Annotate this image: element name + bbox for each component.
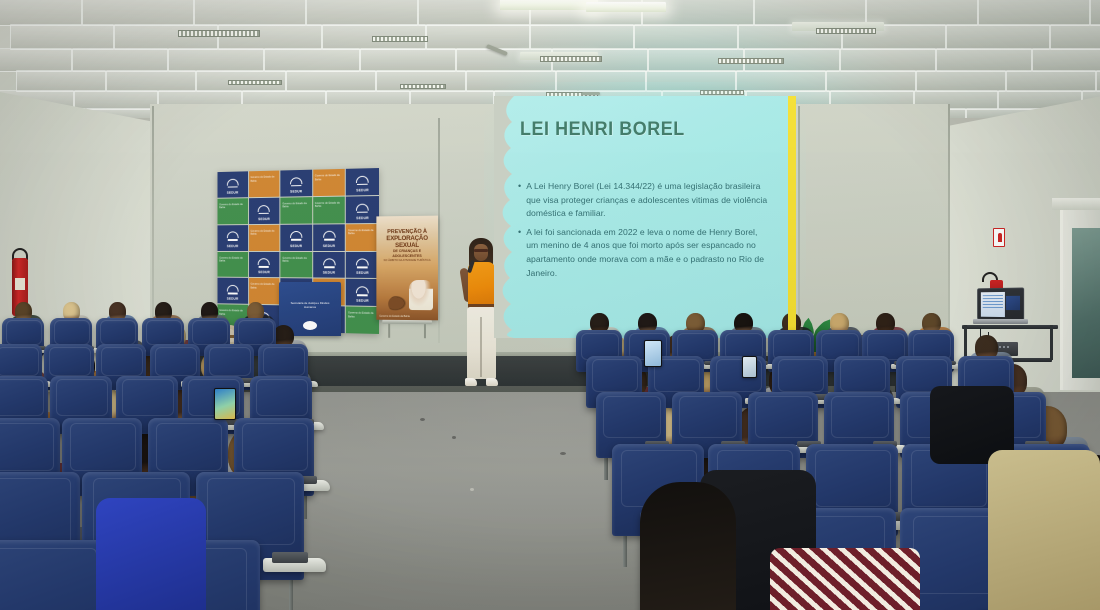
attendee-blue-scrubs bbox=[96, 498, 206, 610]
backdrop-logo-label: SEDUR bbox=[227, 191, 239, 195]
ceiling-tile bbox=[168, 48, 264, 72]
auditorium-presentation-photo: LEI HENRI BOREL •A Lei Henry Borel (Lei … bbox=[0, 0, 1100, 610]
backdrop-tile: SEDUR bbox=[313, 224, 345, 251]
ceiling-air-vent bbox=[540, 56, 602, 62]
auditorium-seat[interactable] bbox=[0, 540, 110, 610]
ceiling-tile bbox=[16, 70, 106, 92]
backdrop-caption: Governo do Estado da Bahia bbox=[250, 175, 277, 183]
backdrop-tile: Governo do Estado da Bahia bbox=[313, 196, 345, 223]
sedur-logo-icon bbox=[356, 259, 369, 268]
backdrop-tile: SEDUR bbox=[346, 196, 379, 223]
projection-screen: LEI HENRI BOREL •A Lei Henry Borel (Lei … bbox=[494, 96, 796, 338]
presentation-slide: LEI HENRI BOREL •A Lei Henry Borel (Lei … bbox=[494, 96, 796, 338]
backdrop-caption: Governo do Estado da Bahia bbox=[315, 201, 343, 208]
presenter-shoe bbox=[465, 378, 477, 386]
backdrop-caption: Governo do Estado da Bahia bbox=[282, 256, 310, 263]
ceiling-tile bbox=[1006, 70, 1096, 92]
backdrop-logo-label: SEDUR bbox=[356, 188, 369, 192]
backdrop-caption: Governo do Estado da Bahia bbox=[282, 202, 310, 209]
backdrop-tile: Governo do Estado da Bahia bbox=[249, 224, 280, 250]
backdrop-tile: Governo do Estado da Bahia bbox=[280, 251, 312, 277]
ceiling-tile bbox=[556, 70, 646, 92]
backdrop-tile: SEDUR bbox=[249, 251, 280, 277]
backdrop-tile: Governo do Estado da Bahia bbox=[346, 224, 379, 251]
backdrop-logo-label: SEDUR bbox=[323, 244, 335, 248]
ceiling-tile bbox=[426, 24, 530, 50]
ceiling-tile bbox=[10, 24, 114, 50]
slide-title: LEI HENRI BOREL bbox=[520, 118, 685, 141]
backdrop-logo-label: SEDUR bbox=[290, 244, 302, 248]
ceiling-tile bbox=[72, 48, 168, 72]
fire-extinguisher-label bbox=[15, 278, 25, 290]
ceiling-tile bbox=[264, 48, 360, 72]
backdrop-logo-label: SEDUR bbox=[227, 297, 239, 301]
ceiling-tile bbox=[1050, 24, 1100, 50]
bullet-dot-icon: • bbox=[518, 226, 521, 280]
backdrop-logo-label: SEDUR bbox=[258, 271, 270, 275]
backdrop-caption: Governo do Estado da Bahia bbox=[250, 229, 277, 236]
backdrop-tile: SEDUR bbox=[217, 225, 247, 251]
backdrop-tile: SEDUR bbox=[217, 278, 247, 304]
sedur-logo-icon bbox=[227, 232, 239, 241]
slide-wavy-edge bbox=[494, 96, 514, 338]
poster-illustration-dog bbox=[388, 296, 408, 312]
sedur-logo-icon bbox=[356, 286, 369, 295]
backdrop-tile: Governo do Estado da Bahia bbox=[249, 171, 280, 198]
floor-debris bbox=[420, 418, 425, 421]
sedur-logo-icon bbox=[356, 176, 369, 185]
ceiling-conduit bbox=[582, 92, 600, 95]
attendee-patterned-blouse bbox=[770, 548, 920, 610]
floor-debris bbox=[560, 452, 566, 455]
backdrop-logo-label: SEDUR bbox=[258, 217, 270, 221]
sedur-logo-icon bbox=[323, 259, 335, 268]
slide-accent-bar bbox=[788, 96, 796, 338]
ceiling-air-vent bbox=[372, 36, 428, 42]
ceiling-tile bbox=[306, 0, 418, 26]
backdrop-tile: SEDUR bbox=[346, 279, 379, 306]
backdrop-caption: Governo do Estado da Bahia bbox=[219, 203, 246, 210]
presenter-shoe bbox=[486, 378, 498, 386]
prevention-campaign-banner: PREVENÇÃO À EXPLORAÇÃO SEXUAL DE CRIANÇA… bbox=[376, 216, 438, 339]
backdrop-tile: Governo do Estado da Bahia bbox=[346, 307, 379, 334]
phone-screen[interactable] bbox=[645, 341, 661, 366]
sedur-logo-icon bbox=[227, 285, 239, 294]
poster-footer: Governo do Estado da Bahia bbox=[379, 315, 409, 318]
backdrop-caption: Governo do Estado da Bahia bbox=[348, 229, 377, 236]
ceiling-tile bbox=[978, 0, 1090, 26]
backdrop-logo-label: SEDUR bbox=[356, 271, 369, 275]
backdrop-tile: Governo do Estado da Bahia bbox=[280, 197, 312, 224]
slide-bullet-list: •A Lei Henry Borel (Lei 14.344/22) é uma… bbox=[518, 180, 770, 285]
backdrop-caption: Governo do Estado da Bahia bbox=[250, 283, 277, 290]
ceiling-tile bbox=[74, 90, 158, 110]
poster-line-2: EXPLORAÇÃO SEXUAL bbox=[379, 235, 435, 249]
ceiling-tile bbox=[646, 70, 736, 92]
bullet-dot-icon: • bbox=[518, 180, 521, 221]
backdrop-tile: SEDUR bbox=[346, 168, 379, 195]
backdrop-logo-label: SEDUR bbox=[356, 216, 369, 220]
backdrop-caption: Governo do Estado da Bahia bbox=[348, 312, 377, 320]
sedur-logo-icon bbox=[323, 231, 335, 240]
floor-debris bbox=[452, 436, 456, 439]
ceiling-tile bbox=[634, 24, 738, 50]
backdrop-logo-label: SEDUR bbox=[227, 244, 239, 248]
banner-stand-leg bbox=[388, 324, 390, 338]
sedur-logo-icon bbox=[227, 179, 239, 188]
backdrop-logo-label: SEDUR bbox=[323, 271, 335, 275]
poster-illustration-child bbox=[409, 280, 433, 310]
ceiling-tile bbox=[946, 24, 1050, 50]
ceiling-tile bbox=[736, 70, 826, 92]
ceiling-tile bbox=[1090, 0, 1100, 26]
cart-side-rail bbox=[1050, 325, 1053, 360]
presenter-face bbox=[474, 244, 488, 261]
banner-stand-leg bbox=[424, 324, 426, 338]
ceiling-tile bbox=[218, 24, 322, 50]
laptop-screen[interactable] bbox=[977, 288, 1024, 321]
ceiling-tile bbox=[530, 24, 634, 50]
ceiling-tile bbox=[916, 70, 1006, 92]
sedur-logo-icon bbox=[258, 205, 270, 214]
attendee-phone[interactable] bbox=[644, 340, 662, 367]
laptop-slide-thumbnail bbox=[1006, 296, 1020, 310]
ceiling-light-panel bbox=[586, 2, 666, 12]
backdrop-tile: SEDUR bbox=[217, 171, 247, 197]
poster-line-3: DE CRIANÇAS E ADOLESCENTES bbox=[379, 249, 435, 258]
wall-corner-seam bbox=[948, 104, 950, 359]
backdrop-caption: Governo do Estado da Bahia bbox=[219, 256, 246, 263]
slide-bullet-item: •A lei foi sancionada em 2022 e leva o n… bbox=[518, 226, 770, 280]
ceiling-tile bbox=[1032, 48, 1100, 72]
fire-extinguisher-sign bbox=[993, 228, 1005, 247]
door-glass-panel[interactable] bbox=[1072, 228, 1100, 378]
ceiling-air-vent bbox=[178, 30, 260, 37]
ceiling-light-panel bbox=[500, 0, 598, 10]
government-logo-icon bbox=[303, 321, 317, 330]
backdrop-tile: Governo do Estado da Bahia bbox=[249, 278, 280, 304]
attendee-phone[interactable] bbox=[214, 388, 236, 420]
backdrop-caption: Governo do Estado da Bahia bbox=[315, 174, 343, 182]
ceiling-tile bbox=[114, 24, 218, 50]
backdrop-tile: SEDUR bbox=[280, 170, 312, 197]
phone-screen[interactable] bbox=[743, 357, 756, 377]
wall-panel-seam bbox=[438, 118, 440, 343]
floor-debris bbox=[470, 488, 474, 491]
ceiling-air-vent bbox=[228, 80, 282, 85]
backdrop-tile: SEDUR bbox=[313, 251, 345, 278]
ceiling-tile bbox=[286, 70, 376, 92]
ceiling-tile bbox=[936, 48, 1032, 72]
presenter-glasses bbox=[474, 249, 488, 252]
backdrop-tile: Governo do Estado da Bahia bbox=[217, 198, 247, 224]
backdrop-tile: SEDUR bbox=[346, 251, 379, 278]
slide-bullet-text: A Lei Henry Borel (Lei 14.344/22) é uma … bbox=[526, 180, 770, 221]
attendee-phone[interactable] bbox=[742, 356, 757, 378]
phone-screen[interactable] bbox=[215, 389, 235, 419]
ceiling-air-vent bbox=[400, 84, 446, 89]
ceiling-air-vent bbox=[700, 90, 744, 95]
presenter-white-trousers bbox=[467, 307, 496, 379]
sedur-logo-icon bbox=[290, 231, 302, 240]
cart-upper-shelf bbox=[962, 325, 1058, 329]
attendee-long-dark-hair bbox=[640, 482, 736, 610]
slide-bullet-item: •A Lei Henry Borel (Lei 14.344/22) é uma… bbox=[518, 180, 770, 221]
ceiling-tile bbox=[826, 70, 916, 92]
ceiling-tile bbox=[360, 48, 456, 72]
ceiling-air-vent bbox=[816, 28, 876, 34]
ceiling-tile bbox=[1096, 70, 1100, 92]
ceiling-air-vent bbox=[718, 58, 784, 64]
laptop-keyboard-base[interactable] bbox=[973, 319, 1028, 324]
ceiling-tile bbox=[82, 0, 194, 26]
attendee-olive-top bbox=[988, 450, 1100, 610]
sedur-logo-icon bbox=[258, 259, 270, 268]
ceiling-tile bbox=[194, 0, 306, 26]
backdrop-tile: SEDUR bbox=[249, 197, 280, 223]
sedur-logo-icon bbox=[290, 177, 302, 186]
backdrop-tile: Governo do Estado da Bahia bbox=[313, 169, 345, 196]
cart-side-rail bbox=[964, 325, 967, 360]
ceiling-tile bbox=[106, 70, 196, 92]
laptop-document-window bbox=[981, 292, 1005, 317]
slide-bullet-text: A lei foi sancionada em 2022 e leva o no… bbox=[526, 226, 770, 280]
ceiling-tile bbox=[0, 48, 72, 72]
sedur-logo-icon bbox=[356, 203, 369, 212]
ceiling-tile bbox=[840, 48, 936, 72]
ceiling-tile bbox=[466, 70, 556, 92]
ceiling-tile bbox=[0, 0, 82, 26]
door-header bbox=[1052, 198, 1100, 210]
backdrop-tile: Governo do Estado da Bahia bbox=[217, 251, 247, 277]
backdrop-logo-label: SEDUR bbox=[356, 299, 369, 303]
seat-armrest-pad bbox=[272, 552, 309, 563]
podium-sign-text: Secretaria de Justiça e Direitos Humanos bbox=[285, 301, 335, 309]
backdrop-tile: SEDUR bbox=[280, 224, 312, 250]
poster-line-4: NO ÂMBITO DA ATIVIDADE TURÍSTICA bbox=[379, 258, 435, 262]
backdrop-logo-label: SEDUR bbox=[290, 189, 302, 193]
